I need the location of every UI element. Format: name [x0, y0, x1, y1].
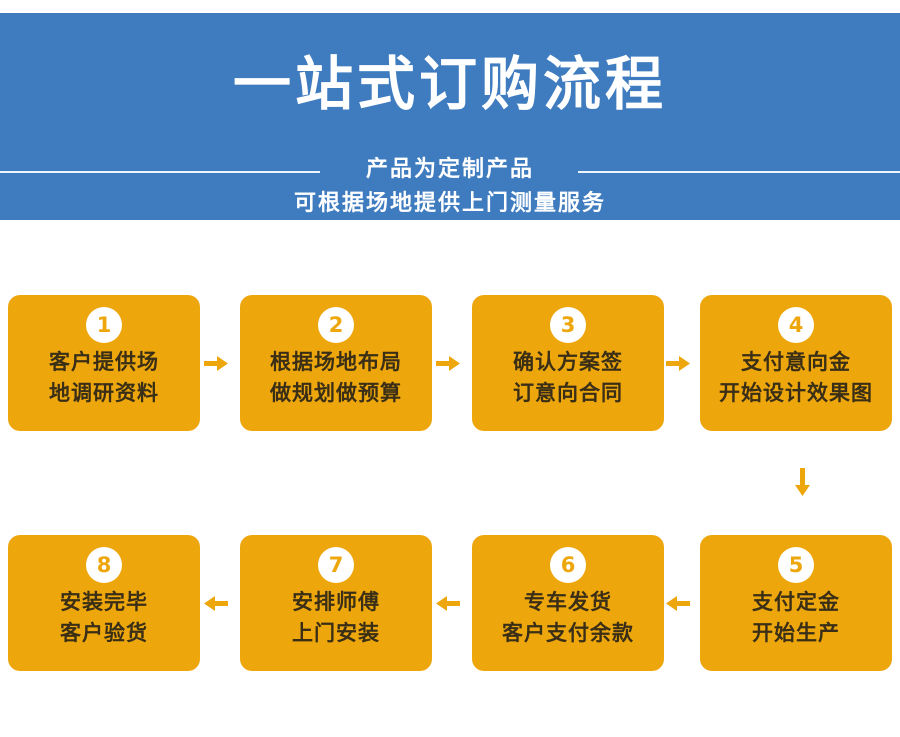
step-label: 客户提供场 地调研资料	[8, 347, 200, 409]
step-label-line-2: 地调研资料	[8, 378, 200, 409]
banner-subtitle-line-2: 可根据场地提供上门测量服务	[0, 189, 900, 219]
arrow-right-icon	[666, 356, 690, 371]
step-label: 支付定金 开始生产	[700, 587, 892, 649]
step-label: 专车发货 客户支付余款	[472, 587, 664, 649]
step-box-5[interactable]: 5 支付定金 开始生产	[700, 535, 892, 671]
step-label-line-2: 上门安装	[240, 618, 432, 649]
step-number-badge: 2	[318, 307, 354, 343]
step-label-line-1: 支付定金	[700, 587, 892, 618]
arrow-left-icon	[436, 596, 460, 611]
step-number-badge: 5	[778, 547, 814, 583]
step-label: 安装完毕 客户验货	[8, 587, 200, 649]
step-label: 根据场地布局 做规划做预算	[240, 347, 432, 409]
step-label-line-1: 安装完毕	[8, 587, 200, 618]
step-label-line-2: 做规划做预算	[240, 378, 432, 409]
step-label-line-1: 支付意向金	[700, 347, 892, 378]
arrow-right-icon	[204, 356, 228, 371]
order-process-infographic: 一站式订购流程 产品为定制产品 可根据场地提供上门测量服务 1 客户提供场 地调…	[0, 0, 900, 737]
arrow-down-icon	[795, 468, 810, 496]
arrow-right-icon	[436, 356, 460, 371]
step-label: 支付意向金 开始设计效果图	[700, 347, 892, 409]
step-box-7[interactable]: 7 安排师傅 上门安装	[240, 535, 432, 671]
step-label: 安排师傅 上门安装	[240, 587, 432, 649]
arrow-left-icon	[666, 596, 690, 611]
step-label-line-1: 客户提供场	[8, 347, 200, 378]
step-label: 确认方案签 订意向合同	[472, 347, 664, 409]
step-label-line-1: 根据场地布局	[240, 347, 432, 378]
step-label-line-2: 开始生产	[700, 618, 892, 649]
step-box-1[interactable]: 1 客户提供场 地调研资料	[8, 295, 200, 431]
step-number-badge: 4	[778, 307, 814, 343]
step-label-line-1: 专车发货	[472, 587, 664, 618]
step-label-line-2: 客户验货	[8, 618, 200, 649]
step-label-line-2: 订意向合同	[472, 378, 664, 409]
flow-row-top: 1 客户提供场 地调研资料 2 根据场地布局 做规划做预算 3 确认方案签 订意…	[0, 295, 900, 431]
step-number-badge: 3	[550, 307, 586, 343]
step-box-3[interactable]: 3 确认方案签 订意向合同	[472, 295, 664, 431]
step-label-line-1: 安排师傅	[240, 587, 432, 618]
step-label-line-2: 客户支付余款	[472, 618, 664, 649]
flow-row-bottom: 8 安装完毕 客户验货 7 安排师傅 上门安装 6 专车发货 客户支付余款	[0, 535, 900, 671]
arrow-left-icon	[204, 596, 228, 611]
header-banner: 一站式订购流程 产品为定制产品 可根据场地提供上门测量服务	[0, 13, 900, 220]
banner-subtitle-line-1: 产品为定制产品	[0, 155, 900, 185]
step-box-2[interactable]: 2 根据场地布局 做规划做预算	[240, 295, 432, 431]
step-label-line-1: 确认方案签	[472, 347, 664, 378]
step-number-badge: 7	[318, 547, 354, 583]
step-label-line-2: 开始设计效果图	[700, 378, 892, 409]
step-number-badge: 8	[86, 547, 122, 583]
page-title: 一站式订购流程	[0, 55, 900, 113]
step-number-badge: 6	[550, 547, 586, 583]
step-box-6[interactable]: 6 专车发货 客户支付余款	[472, 535, 664, 671]
step-box-8[interactable]: 8 安装完毕 客户验货	[8, 535, 200, 671]
step-box-4[interactable]: 4 支付意向金 开始设计效果图	[700, 295, 892, 431]
step-number-badge: 1	[86, 307, 122, 343]
